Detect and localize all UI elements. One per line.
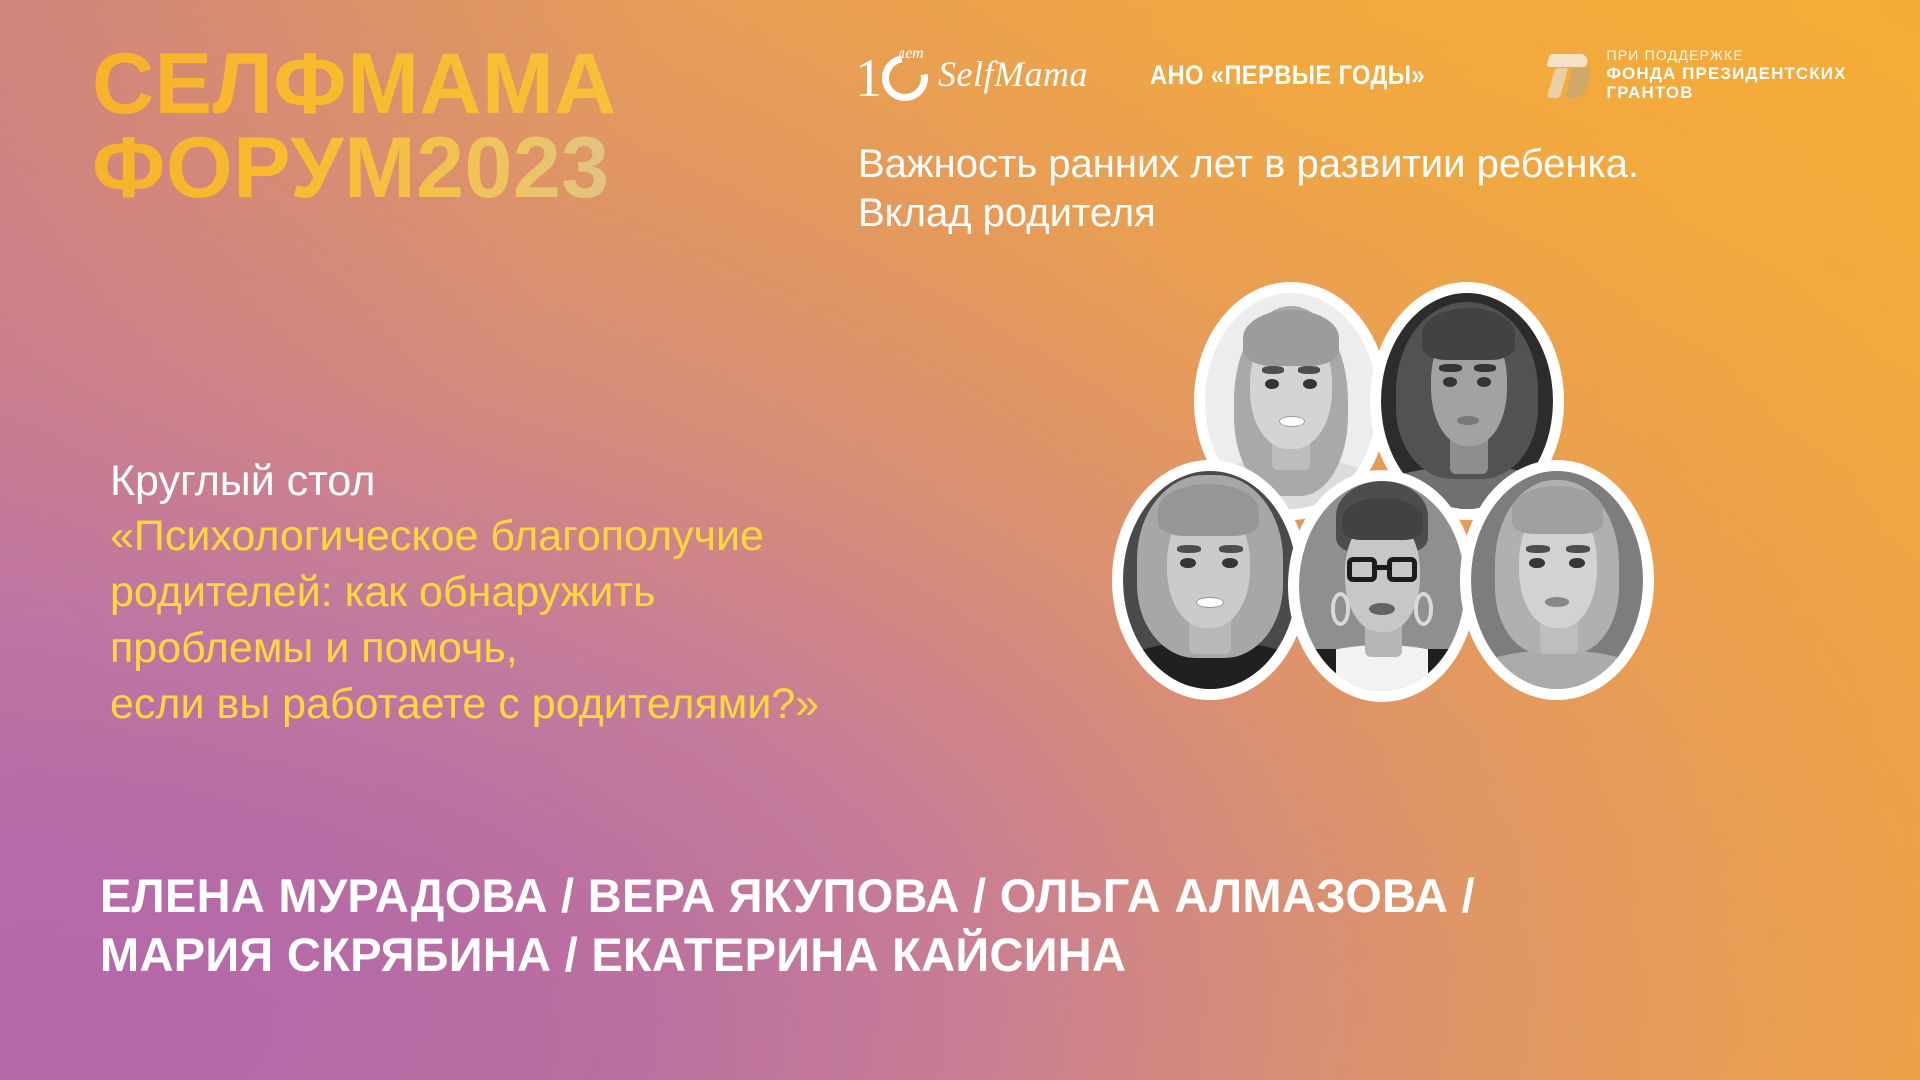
event-subtitle: Важность ранних лет в развитии ребенка. … — [858, 140, 1868, 238]
title-line-2: ФОРУМ2023 — [92, 126, 617, 210]
speaker-names: ЕЛЕНА МУРАДОВА / ВЕРА ЯКУПОВА / ОЛЬГА АЛ… — [100, 866, 1860, 984]
grants-text: ПРИ ПОДДЕРЖКЕ ФОНДА ПРЕЗИДЕНТСКИХ ГРАНТО… — [1606, 48, 1860, 102]
presidential-grants-logo: ПРИ ПОДДЕРЖКЕ ФОНДА ПРЕЗИДЕНТСКИХ ГРАНТО… — [1548, 48, 1860, 102]
speaker-photo-cluster — [1130, 282, 1870, 802]
logo-row: 1 лет SelfMama АНО «ПЕРВЫЕ ГОДЫ» ПРИ ПОД… — [855, 44, 1860, 106]
grants-flag-icon — [1548, 50, 1594, 100]
roundtable-title-line-1: «Психологическое благополучие — [110, 509, 1170, 565]
title-line-1: СЕЛФМАМА — [92, 42, 617, 126]
selfmama-zero-ring-icon: лет — [873, 46, 937, 110]
speaker-names-line-1: ЕЛЕНА МУРАДОВА / ВЕРА ЯКУПОВА / ОЛЬГА АЛ… — [100, 866, 1860, 925]
speaker-portrait-4 — [1288, 470, 1476, 702]
page-title: СЕЛФМАМА ФОРУМ2023 — [92, 42, 617, 211]
selfmama-logo: 1 лет SelfMama — [855, 47, 1088, 103]
subtitle-line-2: Вклад родителя — [858, 189, 1868, 238]
grants-fund-line: ФОНДА ПРЕЗИДЕНТСКИХ ГРАНТОВ — [1606, 64, 1860, 102]
roundtable-title: «Психологическое благополучие родителей:… — [110, 509, 1170, 733]
roundtable-title-line-4: если вы работаете с родителями?» — [110, 677, 1170, 733]
speaker-names-line-2: МАРИЯ СКРЯБИНА / ЕКАТЕРИНА КАЙСИНА — [100, 925, 1860, 984]
selfmama-years-label: лет — [898, 45, 924, 63]
subtitle-line-1: Важность ранних лет в развитии ребенка. — [858, 140, 1868, 189]
roundtable-block: Круглый стол «Психологическое благополуч… — [110, 455, 1170, 733]
speaker-portrait-5 — [1460, 460, 1654, 700]
selfmama-wordmark: SelfMama — [938, 53, 1088, 95]
roundtable-kicker: Круглый стол — [110, 455, 1170, 507]
selfmama-number-one: 1 — [855, 54, 880, 103]
roundtable-title-line-2: родителей: как обнаружить — [110, 565, 1170, 621]
ano-logo-label: АНО «ПЕРВЫЕ ГОДЫ» — [1150, 60, 1425, 91]
grants-support-line: ПРИ ПОДДЕРЖКЕ — [1606, 48, 1860, 64]
roundtable-title-line-3: проблемы и помочь, — [110, 621, 1170, 677]
selfmama-10-years-mark: 1 лет — [855, 47, 928, 103]
